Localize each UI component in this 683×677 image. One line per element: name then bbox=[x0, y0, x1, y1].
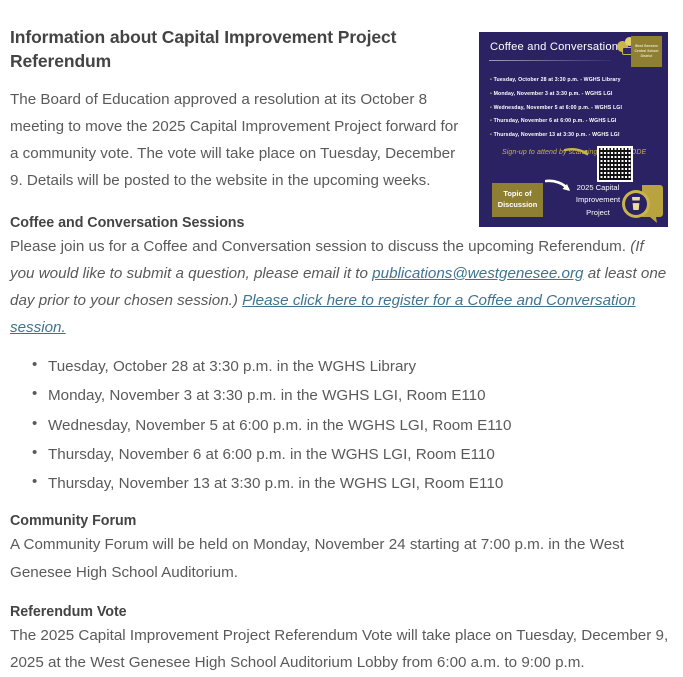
list-item: Wednesday, November 5 at 6:00 p.m. in th… bbox=[48, 414, 671, 437]
flyer-list-item: Monday, November 3 at 3:30 p.m. - WGHS L… bbox=[490, 92, 668, 97]
community-forum-block: Community Forum A Community Forum will b… bbox=[10, 513, 671, 586]
flyer-list-item: Wednesday, November 5 at 6:00 p.m. - WGH… bbox=[490, 106, 668, 111]
community-forum-text: A Community Forum will be held on Monday… bbox=[10, 531, 670, 586]
page-title: Information about Capital Improvement Pr… bbox=[10, 26, 462, 73]
referendum-vote-heading: Referendum Vote bbox=[10, 604, 671, 620]
coffee-cup-speech-bubble-icon bbox=[620, 183, 664, 225]
coffee-conversation-flyer-image: Coffee and Conversation West Genesee Cen… bbox=[479, 32, 668, 227]
coffee-paragraph-text: Please join us for a Coffee and Conversa… bbox=[10, 238, 630, 255]
coffee-section-paragraph: Please join us for a Coffee and Conversa… bbox=[10, 233, 671, 341]
list-item: Tuesday, October 28 at 3:30 p.m. in the … bbox=[48, 355, 671, 378]
district-logo: West Genesee Central School District bbox=[631, 36, 662, 67]
article-page: Coffee and Conversation West Genesee Cen… bbox=[0, 0, 683, 664]
list-item: Thursday, November 13 at 3:30 p.m. in th… bbox=[48, 472, 671, 495]
flyer-title-underline bbox=[489, 60, 611, 61]
session-list: Tuesday, October 28 at 3:30 p.m. in the … bbox=[10, 355, 671, 495]
topic-label-line1: Topic of bbox=[503, 189, 531, 200]
list-item: Monday, November 3 at 3:30 p.m. in the W… bbox=[48, 384, 671, 407]
flyer-list-item: Thursday, November 13 at 3:30 p.m. - WGH… bbox=[490, 133, 668, 138]
community-forum-heading: Community Forum bbox=[10, 513, 671, 529]
referendum-vote-block: Referendum Vote The 2025 Capital Improve… bbox=[10, 604, 671, 677]
flyer-title: Coffee and Conversation bbox=[490, 41, 618, 53]
flyer-header: Coffee and Conversation West Genesee Cen… bbox=[479, 32, 668, 68]
flyer-list-item: Tuesday, October 28 at 3:30 p.m. - WGHS … bbox=[490, 78, 668, 83]
flyer-bottom-area: Topic of Discussion 2025 Capital Improve… bbox=[479, 177, 668, 227]
referendum-vote-text: The 2025 Capital Improvement Project Ref… bbox=[10, 622, 670, 677]
intro-paragraph: The Board of Education approved a resolu… bbox=[10, 87, 465, 195]
curved-arrow-icon bbox=[564, 147, 592, 161]
publications-email-link[interactable]: publications@westgenesee.org bbox=[372, 265, 583, 282]
district-logo-text: West Genesee Central School District bbox=[631, 44, 662, 58]
list-item: Thursday, November 6 at 6:00 p.m. in the… bbox=[48, 443, 671, 466]
topic-label-line2: Discussion bbox=[498, 200, 537, 211]
topic-of-discussion-box: Topic of Discussion bbox=[492, 183, 543, 217]
flyer-list-item: Thursday, November 6 at 6:00 p.m. - WGHS… bbox=[490, 119, 668, 124]
flyer-session-list: Tuesday, October 28 at 3:30 p.m. - WGHS … bbox=[479, 78, 668, 138]
